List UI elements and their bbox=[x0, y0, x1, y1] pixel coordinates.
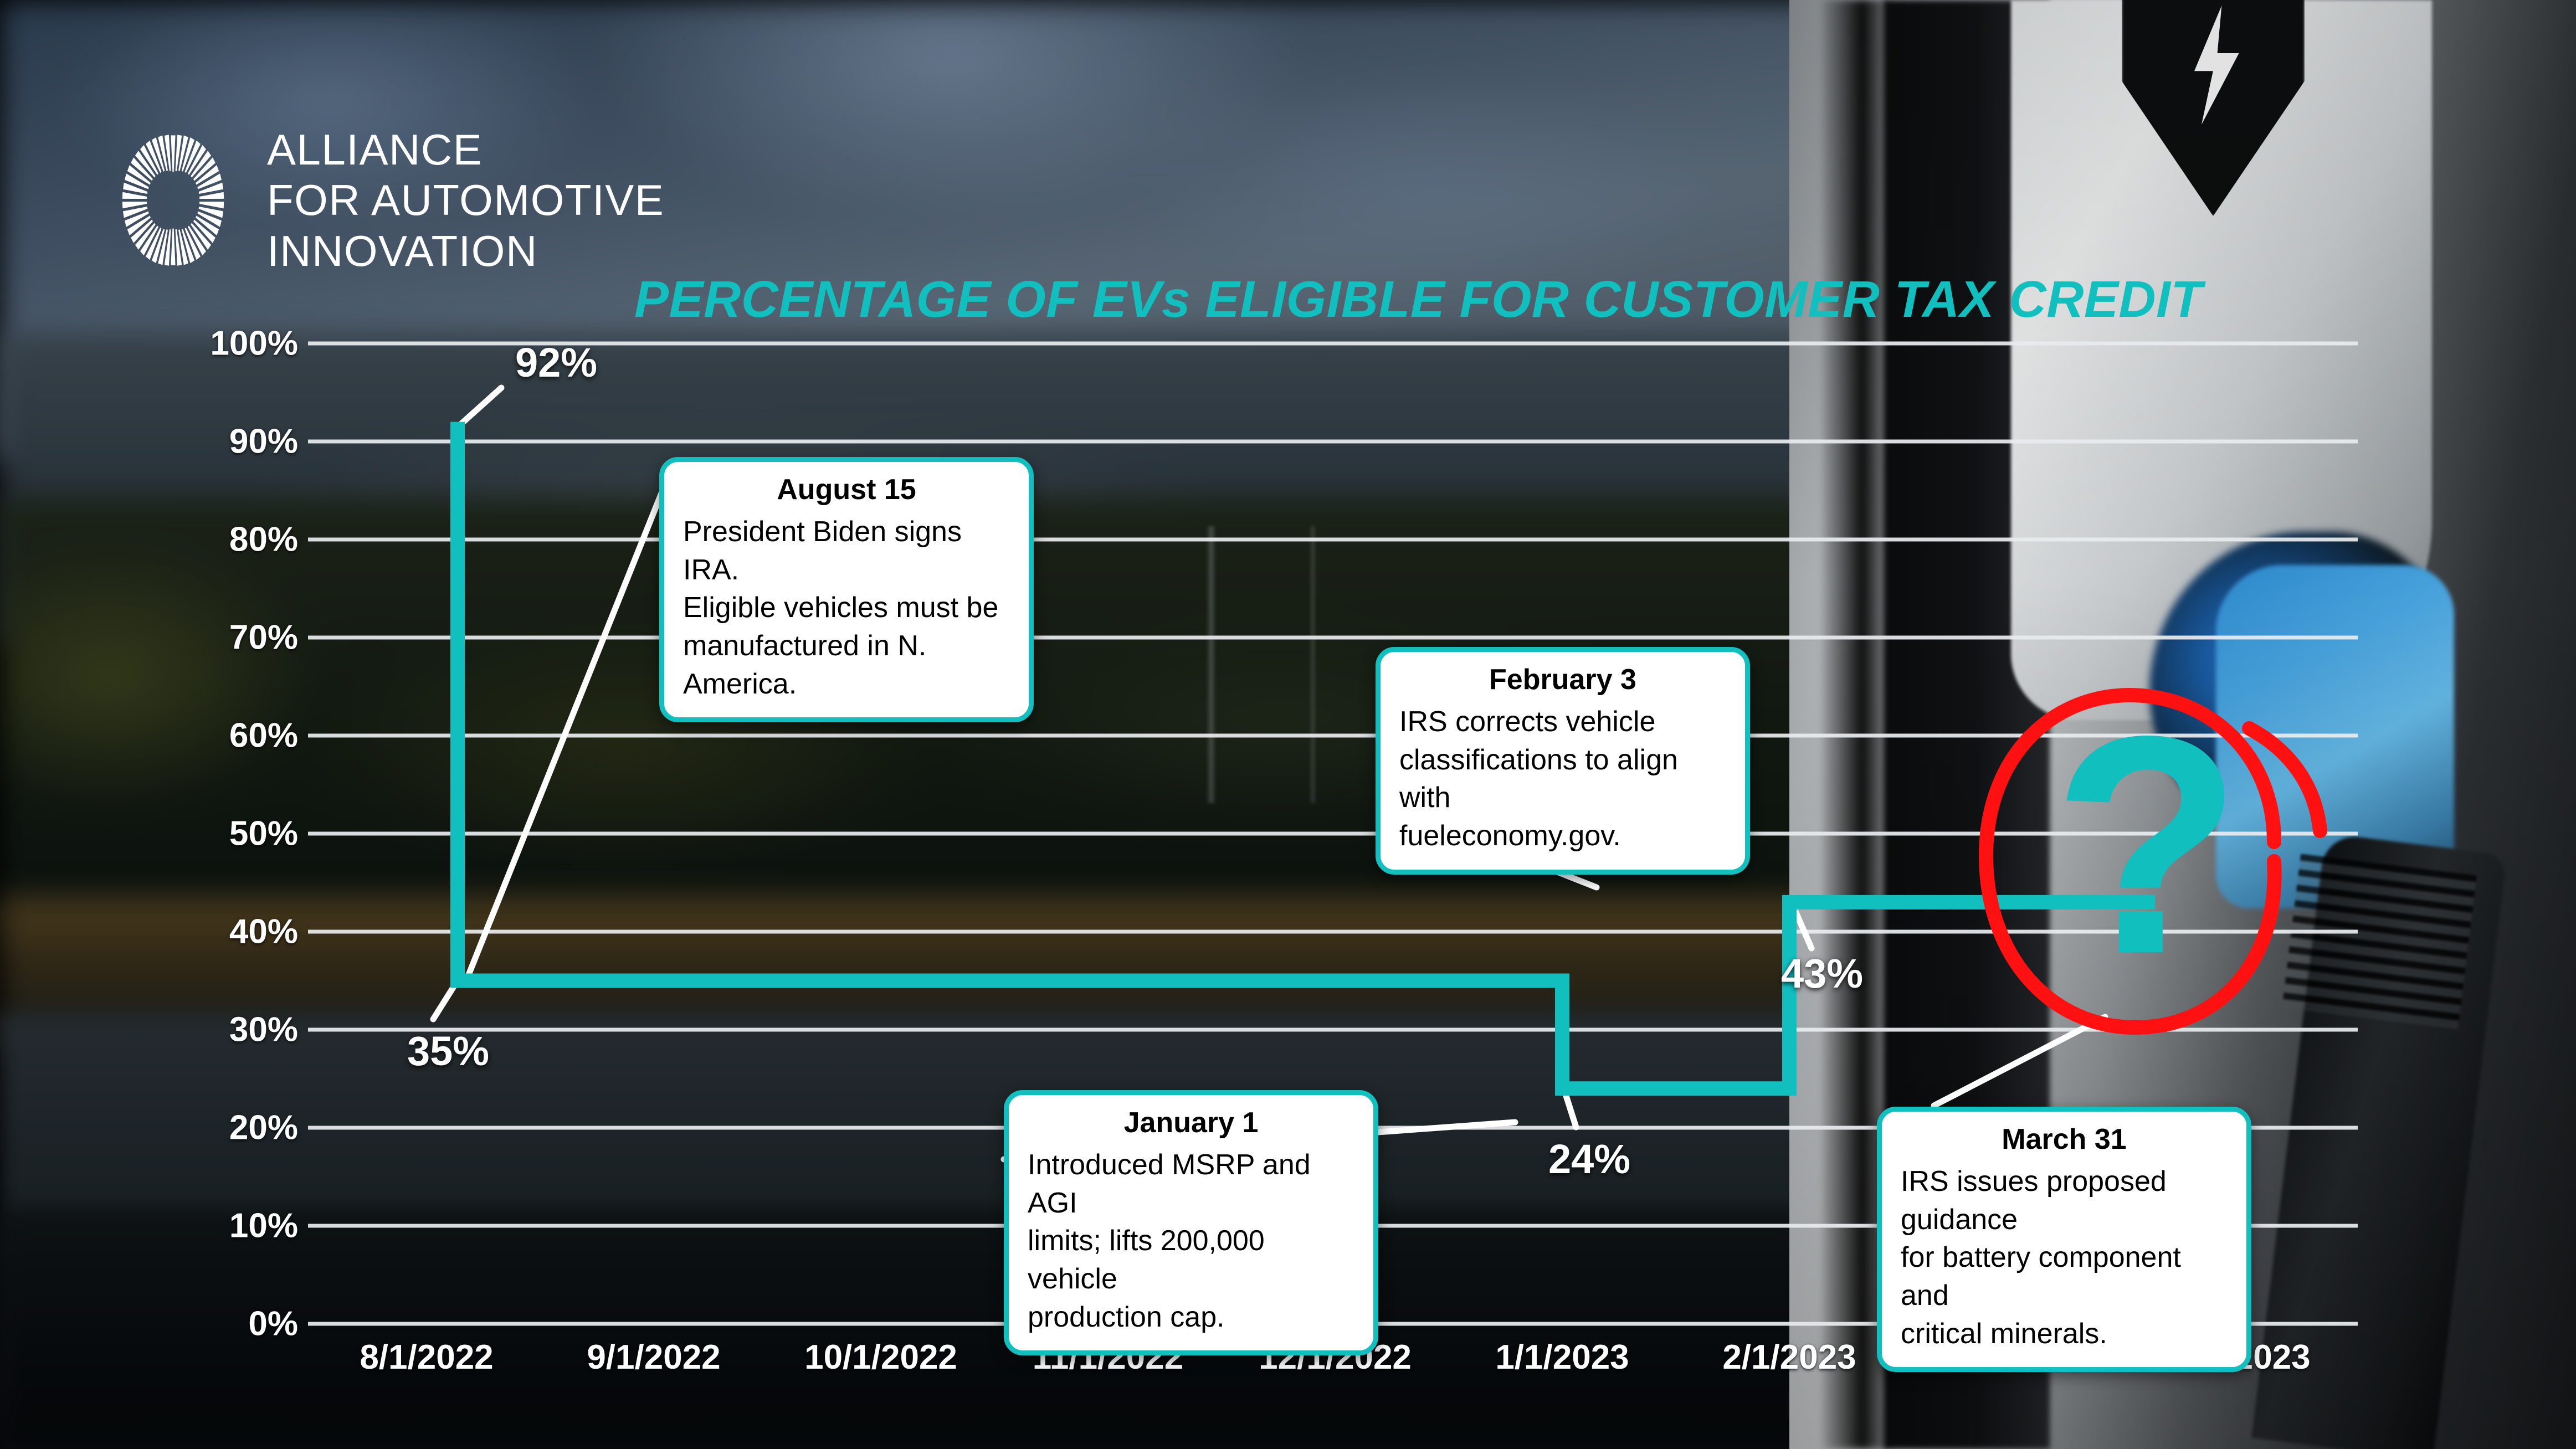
y-axis-tick-0: 0% bbox=[248, 1304, 298, 1344]
callout-title: March 31 bbox=[1901, 1123, 2228, 1156]
callout-line-2: classifications to align with bbox=[1399, 741, 1726, 817]
callout-line-3: manufactured in N. America. bbox=[683, 627, 1010, 703]
y-axis-tick-30: 30% bbox=[229, 1010, 298, 1050]
value-label-43: 43% bbox=[1781, 950, 1863, 997]
y-axis-tick-90: 90% bbox=[229, 422, 298, 461]
callout-line-3: critical minerals. bbox=[1901, 1315, 2228, 1353]
y-axis-tick-80: 80% bbox=[229, 520, 298, 559]
callout-body: IRS corrects vehicle classifications to … bbox=[1399, 703, 1726, 855]
callout-title: August 15 bbox=[683, 473, 1010, 506]
callout-line-1: IRS corrects vehicle bbox=[1399, 703, 1726, 741]
x-axis-tick-2-1-2023: 2/1/2023 bbox=[1722, 1338, 1856, 1377]
callout-january-1[interactable]: January 1 Introduced MSRP and AGI limits… bbox=[1004, 1090, 1378, 1355]
callout-line-3: production cap. bbox=[1028, 1298, 1354, 1337]
future-question-mark-icon: ? bbox=[2052, 690, 2242, 1000]
callout-march-31[interactable]: March 31 IRS issues proposed guidance fo… bbox=[1877, 1107, 2251, 1372]
callout-line-2: limits; lifts 200,000 vehicle bbox=[1028, 1222, 1354, 1298]
x-axis-tick-1-1-2023: 1/1/2023 bbox=[1495, 1338, 1629, 1377]
y-axis-tick-40: 40% bbox=[229, 912, 298, 952]
callout-title: February 3 bbox=[1399, 663, 1726, 696]
callout-body: President Biden signs IRA. Eligible vehi… bbox=[683, 513, 1010, 703]
callout-title: January 1 bbox=[1028, 1106, 1354, 1139]
callout-body: IRS issues proposed guidance for battery… bbox=[1901, 1163, 2228, 1353]
x-axis-tick-9-1-2022: 9/1/2022 bbox=[587, 1338, 720, 1377]
callout-line-1: President Biden signs IRA. bbox=[683, 513, 1010, 589]
y-axis-tick-10: 10% bbox=[229, 1206, 298, 1246]
y-axis-tick-20: 20% bbox=[229, 1108, 298, 1148]
x-axis-tick-10-1-2022: 10/1/2022 bbox=[804, 1338, 957, 1377]
callout-line-3: fueleconomy.gov. bbox=[1399, 817, 1726, 855]
callout-line-2: Eligible vehicles must be bbox=[683, 589, 1010, 627]
y-axis-tick-50: 50% bbox=[229, 814, 298, 854]
callout-february-3[interactable]: February 3 IRS corrects vehicle classifi… bbox=[1376, 647, 1750, 875]
y-axis-tick-70: 70% bbox=[229, 618, 298, 657]
callout-line-2: for battery component and bbox=[1901, 1239, 2228, 1314]
y-axis-tick-60: 60% bbox=[229, 716, 298, 756]
callout-line-1: IRS issues proposed guidance bbox=[1901, 1163, 2228, 1239]
x-axis-tick-8-1-2022: 8/1/2022 bbox=[360, 1338, 493, 1377]
value-label-35: 35% bbox=[407, 1027, 489, 1075]
callout-line-1: Introduced MSRP and AGI bbox=[1028, 1146, 1354, 1222]
callout-body: Introduced MSRP and AGI limits; lifts 20… bbox=[1028, 1146, 1354, 1336]
y-axis-tick-100: 100% bbox=[210, 324, 298, 363]
value-label-24: 24% bbox=[1548, 1135, 1630, 1183]
infographic-root: ALLIANCE FOR AUTOMOTIVE INNOVATION PERCE… bbox=[0, 0, 2576, 1449]
value-label-92: 92% bbox=[515, 339, 597, 386]
callout-august-15[interactable]: August 15 President Biden signs IRA. Eli… bbox=[659, 457, 1034, 722]
